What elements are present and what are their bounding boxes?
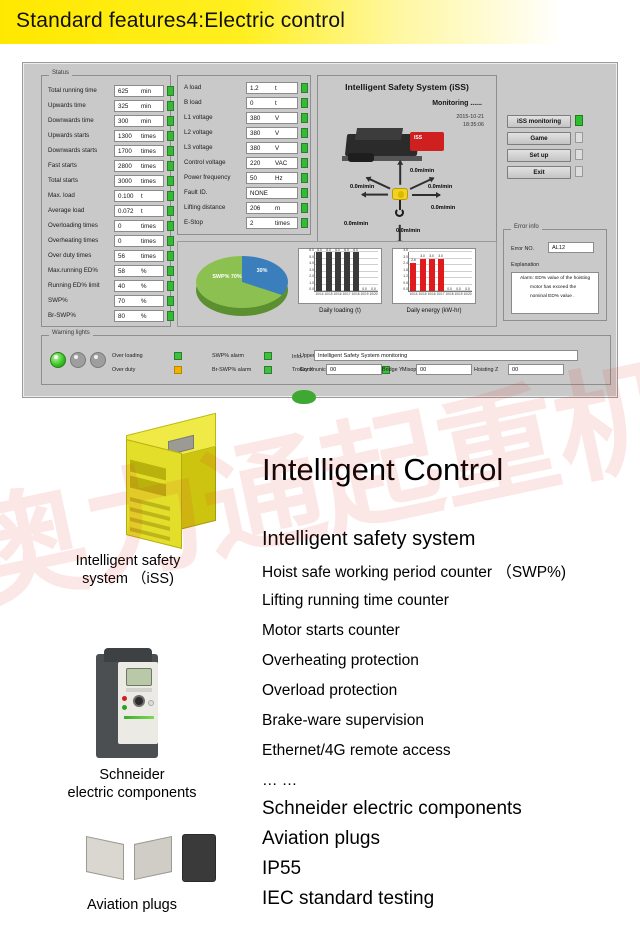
hmi-button-exit[interactable]: Exit bbox=[503, 166, 611, 181]
status-row: Total running time625min bbox=[48, 85, 165, 98]
parameter-row-value: 380 bbox=[247, 130, 260, 137]
parameter-row-unit: V bbox=[275, 130, 279, 137]
warning-group-label: Warning lights bbox=[49, 330, 93, 336]
status-row-unit: t bbox=[141, 193, 143, 200]
speed-label-up: 0.0m/min bbox=[410, 168, 434, 174]
hmi-button-led bbox=[575, 132, 583, 143]
vfd-green-led bbox=[122, 705, 127, 710]
chart-bar-value-label: 3.0 bbox=[420, 254, 424, 258]
parameter-row-led bbox=[301, 83, 308, 93]
status-row-label: Average load bbox=[48, 207, 84, 214]
warning-lamp bbox=[50, 352, 66, 368]
chart-bar-value-label: 0.0 bbox=[447, 287, 451, 291]
status-row-unit: times bbox=[141, 163, 156, 170]
big-point-item: Aviation plugs bbox=[262, 828, 380, 850]
vfd-button-row bbox=[126, 688, 152, 692]
explanation-line: motor has exceed the bbox=[516, 285, 594, 292]
lamp-glint bbox=[74, 355, 78, 359]
status-row-unit: % bbox=[141, 268, 147, 275]
hmi-button-label[interactable]: iSS monitoring bbox=[507, 115, 571, 128]
chart-x-tick-label: 10/15 bbox=[325, 292, 333, 296]
status-row-label: Over duty times bbox=[48, 252, 91, 259]
status-row: Br-SWP%80% bbox=[48, 310, 165, 323]
parameter-row-led bbox=[301, 98, 308, 108]
subheadline: Intelligent safety system bbox=[262, 528, 475, 551]
status-row-led bbox=[167, 86, 174, 96]
status-row-value: 0 bbox=[115, 238, 121, 245]
status-row-field[interactable]: 2800times bbox=[114, 160, 164, 172]
status-row-value: 325 bbox=[115, 103, 128, 110]
parameter-row-label: L2 voltage bbox=[184, 129, 213, 136]
coordinate-label: Bridge Y bbox=[382, 367, 403, 373]
hmi-screenshot: Status Total running time625minUpwards t… bbox=[22, 62, 618, 398]
status-row-field[interactable]: 300min bbox=[114, 115, 164, 127]
status-row-value: 56 bbox=[115, 253, 125, 260]
chart-x-tick-label: 10/19 bbox=[361, 292, 369, 296]
daily-energy-chart: 0.00.61.21.82.43.03.62.610/143.010/153.0… bbox=[392, 248, 476, 304]
caption-schneider-components: Schneiderelectric components bbox=[14, 766, 250, 802]
parameter-row-label: Lifting distance bbox=[184, 204, 225, 211]
parameter-row-field[interactable]: 206m bbox=[246, 202, 298, 214]
status-row-label: Total running time bbox=[48, 87, 97, 94]
status-row-value: 0.072 bbox=[115, 208, 133, 215]
chart-x-tick-label: 10/16 bbox=[428, 292, 436, 296]
pie-top bbox=[196, 256, 288, 308]
status-row-led bbox=[167, 281, 174, 291]
hmi-button-label[interactable]: Set up bbox=[507, 149, 571, 162]
status-row-value: 70 bbox=[115, 298, 125, 305]
status-row-label: Downwards starts bbox=[48, 147, 97, 154]
parameter-row-label: L1 voltage bbox=[184, 114, 213, 121]
coordinate-value: 00 bbox=[509, 367, 518, 373]
status-row: Downwards starts1700times bbox=[48, 145, 165, 158]
big-point-item: IEC standard testing bbox=[262, 888, 434, 910]
schneider-logo bbox=[124, 716, 154, 719]
info-label: Info. bbox=[292, 354, 303, 360]
warning-indicator-led bbox=[264, 352, 272, 360]
chart-bar-value-label: 6.0 bbox=[353, 248, 357, 252]
status-row-value: 3000 bbox=[115, 178, 132, 185]
parameter-row-value: 380 bbox=[247, 115, 260, 122]
status-row-field[interactable]: 70% bbox=[114, 295, 164, 307]
hmi-button-led bbox=[575, 115, 583, 126]
vfd-navigation-knob bbox=[133, 695, 145, 707]
chart-y-tick-label: 1.0 bbox=[309, 281, 314, 285]
status-row: Max.running ED%58% bbox=[48, 265, 165, 278]
chart-bar bbox=[344, 252, 350, 291]
hmi-button-game[interactable]: Game bbox=[503, 132, 611, 147]
parameter-row-field[interactable]: 220VAC bbox=[246, 157, 298, 169]
speed-label-right: 0.0m/min bbox=[431, 205, 455, 211]
chart-x-tick-label: 10/15 bbox=[419, 292, 427, 296]
chart-x-tick-label: 10/16 bbox=[334, 292, 342, 296]
status-row-unit: % bbox=[141, 298, 147, 305]
parameter-row-unit: V bbox=[275, 115, 279, 122]
chart-x-tick-label: 10/18 bbox=[446, 292, 454, 296]
chart-y-tick-label: 3.0 bbox=[309, 268, 314, 272]
parameter-row-label: Fault ID. bbox=[184, 189, 207, 196]
chart-bar-value-label: 3.0 bbox=[429, 254, 433, 258]
status-row-led bbox=[167, 311, 174, 321]
chart-bar-value-label: 0.0 bbox=[465, 287, 469, 291]
parameter-row-unit: VAC bbox=[275, 160, 287, 167]
explanation-line: Alarm: ED% value of the hoisting bbox=[516, 276, 594, 283]
parameter-row: A load1.2t bbox=[184, 82, 305, 95]
safety-relay-photo bbox=[112, 418, 230, 548]
status-row-label: Downwards time bbox=[48, 117, 94, 124]
status-row: Overloading times0times bbox=[48, 220, 165, 233]
parameter-row: L1 voltage380V bbox=[184, 112, 305, 125]
parameter-row-led bbox=[301, 158, 308, 168]
parameter-row-value: 2 bbox=[247, 220, 253, 227]
chart-plot-area: 0.01.02.03.04.05.06.06.010/146.010/156.0… bbox=[314, 252, 378, 292]
vfd-display-screen bbox=[126, 668, 152, 686]
caption-line: electric components bbox=[14, 784, 250, 802]
chart-y-tick-label: 1.2 bbox=[403, 274, 408, 278]
feature-item: Overheating protection bbox=[262, 652, 419, 670]
status-row-led bbox=[167, 146, 174, 156]
charts-panel: SWP% 70% 30% 0.01.02.03.04.05.06.06.010/… bbox=[177, 241, 497, 327]
status-row-field[interactable]: 325min bbox=[114, 100, 164, 112]
hmi-button-label[interactable]: Exit bbox=[507, 166, 571, 179]
status-row-field[interactable]: 0.072t bbox=[114, 205, 164, 217]
monitor-time: 18:35:06 bbox=[463, 122, 484, 128]
status-row-label: Upwards time bbox=[48, 102, 86, 109]
chart-y-tick-label: 0.0 bbox=[403, 287, 408, 291]
daily-energy-caption: Daily energy (kW-hr) bbox=[392, 308, 476, 314]
vfd-top-cap bbox=[104, 648, 152, 662]
status-row-field[interactable]: 1300times bbox=[114, 130, 164, 142]
chart-x-tick-label: 10/17 bbox=[343, 292, 351, 296]
status-row-field[interactable]: 0times bbox=[114, 220, 164, 232]
status-row-label: Fast starts bbox=[48, 162, 77, 169]
parameter-row: Control voltage220VAC bbox=[184, 157, 305, 170]
chart-bar-value-label: 0.0 bbox=[456, 287, 460, 291]
parameter-row-label: B load bbox=[184, 99, 202, 106]
hoist-control-box: ISS bbox=[410, 132, 444, 151]
status-row-value: 300 bbox=[115, 118, 128, 125]
hmi-button-iss-monitoring[interactable]: iSS monitoring bbox=[503, 115, 611, 130]
pie-slice-label-other: 30% bbox=[252, 268, 272, 274]
hmi-button-led bbox=[575, 166, 583, 177]
big-point-item: Schneider electric components bbox=[262, 798, 522, 820]
status-row-led bbox=[167, 101, 174, 111]
status-row: Over duty times56times bbox=[48, 250, 165, 263]
status-row-label: Total starts bbox=[48, 177, 78, 184]
parameter-row-value: NONE bbox=[247, 190, 268, 197]
chart-bar-value-label: 2.6 bbox=[411, 258, 415, 262]
warning-indicator-label: Over loading bbox=[112, 353, 143, 359]
chart-bar bbox=[420, 259, 426, 292]
status-row-unit: t bbox=[141, 208, 143, 215]
chart-bar bbox=[353, 252, 359, 291]
warning-lamp bbox=[90, 352, 106, 368]
status-group-label: Status bbox=[49, 70, 72, 76]
chart-y-tick-label: 0.6 bbox=[403, 281, 408, 285]
coordinate-field[interactable]: 00 bbox=[508, 364, 564, 375]
chart-y-tick-label: 2.0 bbox=[309, 274, 314, 278]
chart-x-tick-label: 10/19 bbox=[455, 292, 463, 296]
status-row-value: 0.100 bbox=[115, 193, 133, 200]
status-row-field[interactable]: 0.100t bbox=[114, 190, 164, 202]
status-row-label: Upwards starts bbox=[48, 132, 89, 139]
status-row-unit: times bbox=[141, 178, 156, 185]
parameter-row: L2 voltage380V bbox=[184, 127, 305, 140]
parameter-row-label: Power frequency bbox=[184, 174, 230, 181]
parameter-row-field[interactable]: 2times bbox=[246, 217, 298, 229]
chart-y-tick-label: 6.0 bbox=[309, 248, 314, 252]
status-row: Overheating times0times bbox=[48, 235, 165, 248]
status-row-led bbox=[167, 191, 174, 201]
status-row-led bbox=[167, 206, 174, 216]
chart-y-tick-label: 2.4 bbox=[403, 261, 408, 265]
parameter-row: B load0t bbox=[184, 97, 305, 110]
chart-bar-value-label: 0.0 bbox=[362, 287, 366, 291]
status-row-value: 58 bbox=[115, 268, 125, 275]
feature-item: Motor starts counter bbox=[262, 622, 400, 640]
status-row-led bbox=[167, 176, 174, 186]
hmi-button-led bbox=[575, 149, 583, 160]
plug-male-insert bbox=[86, 836, 124, 880]
parameter-panel: A load1.2tB load0tL1 voltage380VL2 volta… bbox=[177, 75, 311, 235]
status-row: Upwards time325min bbox=[48, 100, 165, 113]
status-row-label: Running ED% limit bbox=[48, 282, 100, 289]
info-value: Intelligent Safety System monitoring bbox=[315, 353, 407, 359]
monitor-subtitle: Monitoring ...... bbox=[432, 100, 482, 107]
status-row-value: 0 bbox=[115, 223, 121, 230]
parameter-row: Power frequency50Hz bbox=[184, 172, 305, 185]
parameter-row: E-Stop2times bbox=[184, 217, 305, 230]
parameter-row-value: 1.2 bbox=[247, 85, 259, 92]
page-title: Standard features4:Electric control bbox=[16, 9, 345, 33]
info-field[interactable]: Intelligent Safety System monitoring bbox=[314, 350, 578, 361]
status-row-label: Overloading times bbox=[48, 222, 98, 229]
status-row-label: Br-SWP% bbox=[48, 312, 76, 319]
chart-y-tick-label: 1.8 bbox=[403, 268, 408, 272]
caption-safety-relay: Intelligent safetysystem （iSS) bbox=[22, 552, 234, 588]
chart-bar bbox=[438, 259, 444, 292]
caption-line: Schneider bbox=[14, 766, 250, 784]
parameter-row-unit: t bbox=[275, 100, 277, 107]
coordinate-label: Hoisting Z bbox=[474, 367, 498, 373]
chart-bar bbox=[326, 252, 332, 291]
parameter-row-led bbox=[301, 218, 308, 228]
parameter-row-field[interactable]: 50Hz bbox=[246, 172, 298, 184]
status-row-unit: min bbox=[141, 118, 151, 125]
status-row-field[interactable]: 80% bbox=[114, 310, 164, 322]
chart-gridline bbox=[409, 251, 472, 252]
explanation-box: Alarm: ED% value of the hoisting motor h… bbox=[511, 272, 599, 314]
parameter-row-label: Control voltage bbox=[184, 159, 226, 166]
chart-y-tick-label: 3.6 bbox=[403, 248, 408, 252]
chart-bar-value-label: 6.0 bbox=[326, 248, 330, 252]
chart-bar bbox=[410, 263, 416, 291]
hmi-button-label[interactable]: Game bbox=[507, 132, 571, 145]
lamp-glint bbox=[94, 355, 98, 359]
status-row-unit: times bbox=[141, 253, 156, 260]
parameter-row-unit: m bbox=[275, 205, 280, 212]
chart-y-tick-label: 5.0 bbox=[309, 255, 314, 259]
status-row-label: Max.running ED% bbox=[48, 267, 98, 274]
chart-bar-value-label: 6.0 bbox=[344, 248, 348, 252]
status-row-unit: min bbox=[141, 103, 151, 110]
lamp-glint bbox=[54, 355, 58, 359]
parameter-row-led bbox=[301, 128, 308, 138]
feature-item: Ethernet/4G remote access bbox=[262, 742, 451, 760]
status-row-value: 1300 bbox=[115, 133, 132, 140]
coordinate-field[interactable]: 00 bbox=[416, 364, 472, 375]
status-row-unit: times bbox=[141, 148, 156, 155]
parameter-row-field[interactable]: 1.2t bbox=[246, 82, 298, 94]
chart-x-tick-label: 10/20 bbox=[464, 292, 472, 296]
feature-item: Lifting running time counter bbox=[262, 592, 449, 610]
status-row-field[interactable]: 0times bbox=[114, 235, 164, 247]
parameter-row-led bbox=[301, 113, 308, 123]
arrow-left bbox=[362, 194, 388, 196]
status-row-unit: times bbox=[141, 238, 156, 245]
error-no-field[interactable]: AL12 bbox=[548, 242, 594, 253]
chart-bar-value-label: 6.0 bbox=[335, 248, 339, 252]
feature-item: Hoist safe working period counter （SWP%) bbox=[262, 560, 566, 582]
parameter-row-field[interactable]: 380V bbox=[246, 127, 298, 139]
status-row-field[interactable]: 56times bbox=[114, 250, 164, 262]
parameter-row-unit: t bbox=[275, 85, 277, 92]
error-info-panel: Error info Error NO. AL12 Explanation Al… bbox=[503, 229, 607, 321]
hoist-illustration: ISS bbox=[340, 126, 450, 168]
speed-label-down-left: 0.0m/min bbox=[344, 221, 368, 227]
status-row: SWP%70% bbox=[48, 295, 165, 308]
status-row-unit: times bbox=[141, 223, 156, 230]
hmi-button-set-up[interactable]: Set up bbox=[503, 149, 611, 164]
status-row-label: Overheating times bbox=[48, 237, 98, 244]
status-row-led bbox=[167, 116, 174, 126]
caption-line: system （iSS) bbox=[22, 570, 234, 588]
caption-line: Aviation plugs bbox=[14, 896, 250, 914]
parameter-row-value: 50 bbox=[247, 175, 257, 182]
status-row: Downwards time300min bbox=[48, 115, 165, 128]
hoist-drum bbox=[348, 153, 374, 162]
status-row-led bbox=[167, 161, 174, 171]
status-row-led bbox=[167, 266, 174, 276]
error-no-label: Error NO. bbox=[511, 246, 534, 252]
parameter-row: Fault ID.NONE bbox=[184, 187, 305, 200]
status-row: Total starts3000times bbox=[48, 175, 165, 188]
status-row-unit: min bbox=[141, 88, 151, 95]
status-row-led bbox=[167, 296, 174, 306]
daily-loading-chart: 0.01.02.03.04.05.06.06.010/146.010/156.0… bbox=[298, 248, 382, 304]
caption-aviation-plugs: Aviation plugs bbox=[14, 896, 250, 914]
parameter-row-unit: times bbox=[275, 220, 290, 227]
status-row-value: 40 bbox=[115, 283, 125, 290]
chart-x-tick-label: 10/18 bbox=[352, 292, 360, 296]
big-point-item: IP55 bbox=[262, 858, 301, 880]
coordinate-label: Trolley X bbox=[292, 367, 313, 373]
parameter-row-label: E-Stop bbox=[184, 219, 203, 226]
chart-plot-area: 0.00.61.21.82.43.03.62.610/143.010/153.0… bbox=[408, 252, 472, 292]
warning-indicator-led bbox=[264, 366, 272, 374]
parameter-row-unit: Hz bbox=[275, 175, 283, 182]
speed-label-up-right: 0.0m/min bbox=[428, 184, 452, 190]
chart-bar bbox=[429, 259, 435, 292]
chart-bar bbox=[316, 252, 322, 291]
warning-indicator-label: SWP% alarm bbox=[212, 353, 244, 359]
warning-indicator-label: Over duty bbox=[112, 367, 135, 373]
hoist-top-housing bbox=[355, 128, 403, 140]
explanation-label: Explanation bbox=[511, 262, 539, 268]
chart-x-tick-label: 10/17 bbox=[437, 292, 445, 296]
feature-item: Overload protection bbox=[262, 682, 397, 700]
status-row-unit: % bbox=[141, 313, 147, 320]
speed-label-down: 0.0m/min bbox=[396, 228, 420, 234]
hook-icon bbox=[392, 188, 408, 200]
parameter-row-field[interactable]: 380V bbox=[246, 142, 298, 154]
status-row-field[interactable]: 58% bbox=[114, 265, 164, 277]
parameter-row-led bbox=[301, 203, 308, 213]
coordinate-field[interactable]: 00 bbox=[326, 364, 382, 375]
caption-line: Intelligent safety bbox=[22, 552, 234, 570]
plug-latch bbox=[176, 868, 188, 884]
chart-bar-value-label: 3.0 bbox=[438, 254, 442, 258]
parameter-row-field[interactable]: 0t bbox=[246, 97, 298, 109]
warning-indicator-led bbox=[174, 352, 182, 360]
headline: Intelligent Control bbox=[262, 452, 503, 488]
parameter-row-unit: V bbox=[275, 145, 279, 152]
status-row-field[interactable]: 3000times bbox=[114, 175, 164, 187]
explanation-line: nominal ED% value . bbox=[516, 294, 594, 301]
status-row-field[interactable]: 40% bbox=[114, 280, 164, 292]
swp-pie-chart: SWP% 70% 30% bbox=[196, 256, 288, 316]
status-row-field[interactable]: 1700times bbox=[114, 145, 164, 157]
arrow-up bbox=[399, 161, 401, 185]
status-row: Fast starts2800times bbox=[48, 160, 165, 173]
parameter-row-led bbox=[301, 173, 308, 183]
error-group-label: Error info bbox=[511, 224, 542, 230]
vfd-red-led bbox=[122, 696, 127, 701]
parameter-row-value: 380 bbox=[247, 145, 260, 152]
status-row: Upwards starts1300times bbox=[48, 130, 165, 143]
parameter-row-value: 0 bbox=[247, 100, 253, 107]
aviation-plugs-photo bbox=[24, 830, 236, 896]
parameter-row-field[interactable]: NONE bbox=[246, 187, 298, 199]
schneider-vfd-photo bbox=[96, 648, 168, 760]
status-row: Running ED% limit40% bbox=[48, 280, 165, 293]
chart-y-tick-label: 0.0 bbox=[309, 287, 314, 291]
pie-slice-label-swp: SWP% 70% bbox=[210, 274, 244, 280]
parameter-row-led bbox=[301, 188, 308, 198]
warning-lights-panel: Warning lights Over loadingOver dutySWP%… bbox=[41, 335, 611, 385]
page-title-bar: Standard features4:Electric control bbox=[0, 0, 640, 44]
status-row: Average load0.072t bbox=[48, 205, 165, 218]
hook-hook bbox=[395, 208, 404, 217]
status-row-label: SWP% bbox=[48, 297, 68, 304]
status-row-field[interactable]: 625min bbox=[114, 85, 164, 97]
parameter-row-field[interactable]: 380V bbox=[246, 112, 298, 124]
arrow-right bbox=[412, 194, 440, 196]
status-row-led bbox=[167, 221, 174, 231]
status-row-value: 2800 bbox=[115, 163, 132, 170]
button-column: iSS monitoringGameSet upExit bbox=[503, 115, 611, 185]
status-row: Max. load0.100t bbox=[48, 190, 165, 203]
plug-female-insert bbox=[134, 836, 172, 880]
vfd-white-button bbox=[148, 700, 154, 706]
warning-lamp bbox=[70, 352, 86, 368]
status-row-led bbox=[167, 131, 174, 141]
chart-x-tick-label: 10/14 bbox=[316, 292, 324, 296]
status-row-value: 625 bbox=[115, 88, 128, 95]
status-panel: Status Total running time625minUpwards t… bbox=[41, 75, 171, 327]
chart-bar-value-label: 6.0 bbox=[317, 248, 321, 252]
status-row-unit: times bbox=[141, 133, 156, 140]
